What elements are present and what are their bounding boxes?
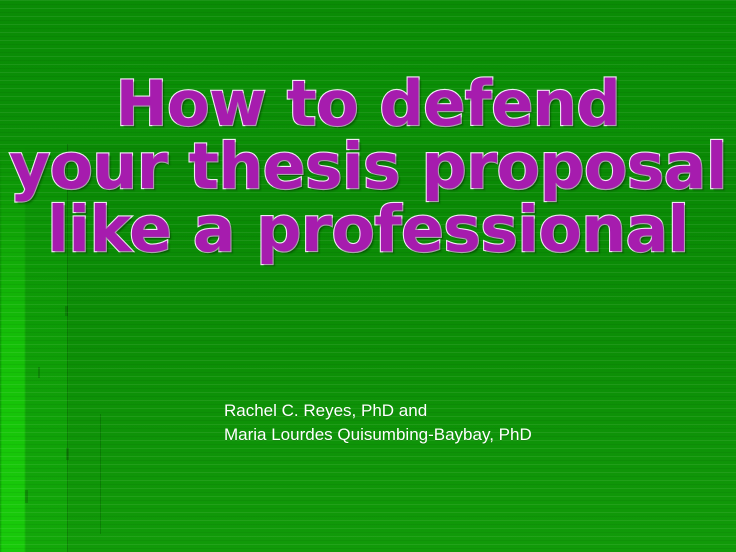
slide-subtitle-authors: Rachel C. Reyes, PhD and Maria Lourdes Q…: [224, 399, 532, 447]
title-slide: How to defend your thesis proposal like …: [0, 0, 736, 552]
slide-title: How to defend your thesis proposal like …: [0, 72, 736, 261]
subtitle-line-2: Maria Lourdes Quisumbing-Baybay, PhD: [224, 423, 532, 447]
subtitle-line-1: Rachel C. Reyes, PhD and: [224, 399, 532, 423]
title-line-3: like a professional: [0, 198, 736, 261]
title-line-1: How to defend: [0, 72, 736, 135]
title-line-2: your thesis proposal: [0, 135, 736, 198]
